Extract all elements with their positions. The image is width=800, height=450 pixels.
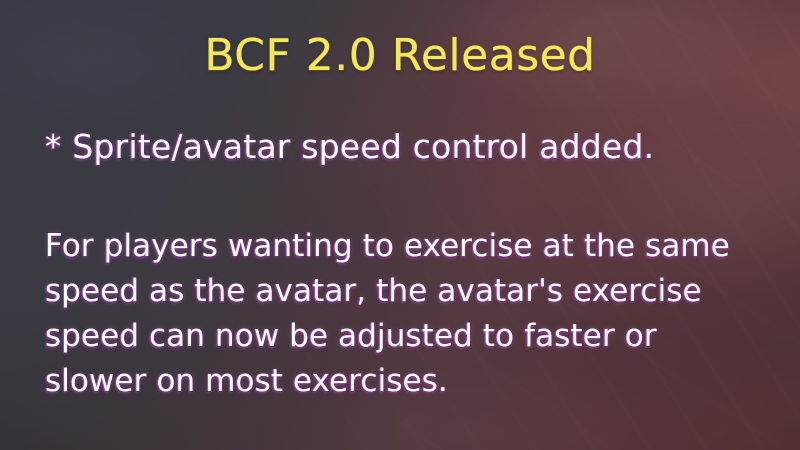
slide-title: BCF 2.0 Released xyxy=(0,34,800,78)
paragraph-line: slower on most exercises. xyxy=(45,359,775,404)
paragraph-line: For players wanting to exercise at the s… xyxy=(45,224,775,269)
paragraph-line: speed as the avatar, the avatar's exerci… xyxy=(45,269,775,314)
feature-bullet-text: * Sprite/avatar speed control added. xyxy=(45,128,654,167)
announcement-slide: BCF 2.0 Released * Sprite/avatar speed c… xyxy=(0,0,800,450)
paragraph-line: speed can now be adjusted to faster or xyxy=(45,314,775,359)
description-paragraph: For players wanting to exercise at the s… xyxy=(45,224,775,404)
slide-content: BCF 2.0 Released * Sprite/avatar speed c… xyxy=(0,0,800,450)
